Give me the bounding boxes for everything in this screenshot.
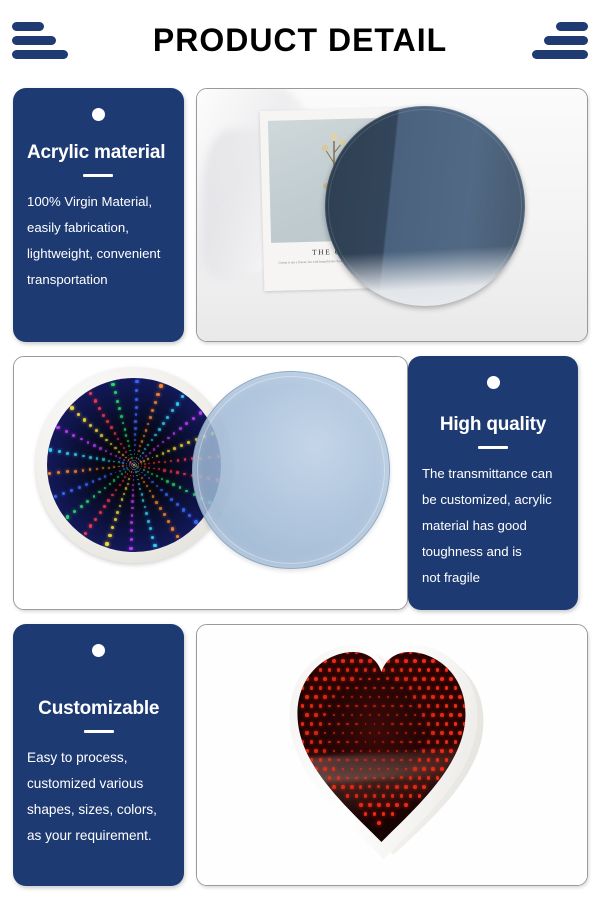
feature-card-body: 100% Virgin Material, easily fabrication… — [27, 189, 170, 293]
led-dot — [124, 428, 126, 430]
led-dot — [364, 668, 367, 671]
led-dot — [140, 468, 141, 469]
led-dot — [116, 400, 119, 403]
product-photo-infinity-mirror — [13, 356, 408, 610]
led-dot — [120, 415, 123, 418]
led-dot — [440, 767, 444, 771]
led-dot — [355, 794, 358, 797]
led-dot — [117, 438, 119, 440]
led-dot — [199, 411, 202, 414]
led-dot — [158, 468, 160, 470]
heart-mirror — [283, 637, 497, 867]
led-dot — [115, 489, 117, 491]
led-dot — [436, 686, 440, 690]
led-dot — [458, 659, 462, 663]
led-dot — [125, 434, 127, 436]
led-dot — [113, 466, 115, 468]
led-dot — [161, 478, 163, 480]
led-dot — [148, 467, 150, 469]
led-dot — [305, 731, 308, 734]
led-dot — [373, 812, 377, 816]
led-dot — [449, 731, 453, 735]
led-dot — [314, 731, 317, 734]
led-dot — [188, 514, 191, 517]
feature-card-title: Customizable — [27, 699, 170, 720]
led-dot — [131, 507, 134, 510]
led-dot — [162, 441, 164, 443]
led-dot — [170, 470, 172, 472]
led-dot — [350, 677, 353, 680]
led-dot — [404, 677, 407, 680]
led-dot — [305, 659, 309, 663]
led-dot — [436, 758, 440, 762]
led-dot — [332, 785, 335, 788]
led-dot — [422, 767, 425, 770]
led-dot — [119, 457, 121, 459]
led-dot — [192, 417, 195, 420]
led-dot — [72, 434, 75, 437]
led-dot — [153, 448, 155, 450]
led-dot — [133, 479, 135, 481]
led-dot — [134, 453, 136, 455]
led-dot — [130, 454, 132, 456]
led-dot — [301, 704, 305, 708]
led-dot — [145, 455, 147, 457]
led-dot — [114, 391, 117, 394]
led-dot — [140, 455, 142, 457]
led-dot — [173, 432, 176, 435]
led-dot — [179, 486, 182, 489]
led-dot — [449, 749, 453, 753]
led-dot — [134, 457, 135, 458]
led-dot — [314, 677, 318, 681]
product-detail-page: PRODUCT DETAIL Acrylic material 100% Vir… — [0, 0, 600, 904]
led-dot — [107, 499, 110, 502]
led-dot — [445, 722, 449, 726]
led-dot — [395, 803, 399, 807]
led-dot — [130, 529, 133, 532]
led-dot — [57, 471, 60, 474]
led-dot — [382, 650, 386, 654]
led-dot — [144, 466, 146, 468]
feature-row-3: Customizable Easy to process, customized… — [13, 624, 588, 886]
led-dot — [151, 481, 153, 483]
led-dot — [337, 776, 340, 779]
led-dot — [86, 500, 89, 503]
led-dot — [404, 659, 408, 663]
deco-bar-icon — [556, 22, 588, 31]
led-dot — [458, 731, 462, 735]
led-dot — [100, 434, 103, 437]
led-dot — [115, 472, 117, 474]
led-dot — [144, 448, 146, 450]
led-dot — [185, 422, 188, 425]
led-dot — [134, 449, 136, 451]
led-dot — [418, 686, 421, 689]
led-dot — [187, 441, 190, 444]
led-dot — [82, 469, 85, 472]
led-dot — [99, 511, 102, 514]
led-dot — [167, 437, 170, 440]
led-dot — [449, 713, 453, 717]
led-dot — [323, 767, 326, 770]
led-dot — [445, 758, 449, 762]
led-dot — [56, 426, 59, 429]
deco-bar-icon — [544, 36, 588, 45]
title-divider — [83, 174, 113, 177]
led-dot — [337, 668, 340, 671]
led-dot — [141, 472, 143, 474]
led-dot — [346, 794, 349, 797]
led-dot — [108, 460, 110, 462]
led-dot — [122, 454, 124, 456]
led-dot — [84, 532, 87, 535]
led-dot — [118, 407, 121, 410]
led-dot — [143, 460, 145, 462]
led-dot — [355, 723, 357, 725]
led-dot — [314, 713, 317, 716]
led-dot — [151, 536, 154, 539]
led-dot — [148, 463, 150, 465]
led-dot — [368, 803, 371, 806]
led-dot — [413, 767, 416, 770]
led-dot — [111, 383, 114, 386]
led-dot — [409, 686, 412, 689]
led-dot — [305, 695, 309, 699]
led-dot — [176, 535, 179, 538]
led-dot — [180, 444, 183, 447]
led-dot — [422, 785, 426, 789]
led-dot — [378, 714, 380, 716]
led-dot — [449, 677, 453, 681]
led-dot — [147, 458, 149, 460]
led-dot — [111, 494, 113, 496]
led-dot — [369, 714, 371, 716]
led-dot — [391, 741, 393, 743]
led-dot — [176, 471, 179, 474]
led-dot — [142, 499, 144, 501]
led-dot — [413, 785, 416, 788]
led-dot — [400, 705, 403, 708]
led-dot — [431, 713, 434, 716]
led-dot — [418, 668, 422, 672]
led-dot — [144, 463, 146, 465]
led-dot — [391, 705, 393, 707]
led-dot — [74, 453, 77, 456]
led-dot — [134, 467, 135, 468]
led-dot — [323, 695, 326, 698]
led-dot — [135, 406, 138, 409]
feature-card-body-line: be customized, acrylic — [422, 487, 564, 513]
led-dot — [319, 722, 322, 725]
led-dot — [114, 518, 117, 521]
tag-hole-icon — [487, 376, 500, 389]
led-dot — [136, 457, 137, 458]
led-dot — [135, 413, 138, 416]
led-dot — [129, 464, 130, 465]
led-dot — [427, 740, 430, 743]
led-dot — [458, 713, 462, 717]
led-dot — [323, 677, 327, 681]
led-dot — [158, 428, 161, 431]
led-dot — [409, 776, 412, 779]
led-dot — [310, 740, 313, 743]
led-dot — [119, 484, 121, 486]
led-dot — [111, 526, 114, 529]
led-dot — [125, 471, 127, 473]
led-dot — [143, 435, 145, 437]
led-dot — [85, 483, 88, 486]
led-dot — [102, 414, 105, 417]
led-dot — [149, 527, 152, 530]
tag-hole-icon — [92, 108, 105, 121]
led-dot — [377, 821, 381, 825]
led-dot — [160, 489, 162, 491]
led-dot — [346, 705, 349, 708]
led-dot — [139, 488, 141, 490]
led-dot — [124, 476, 126, 478]
led-dot — [123, 468, 125, 470]
led-dot — [134, 427, 136, 429]
feature-card-body-line: material has good — [422, 513, 564, 539]
led-dot — [66, 452, 69, 455]
led-dot — [431, 677, 435, 681]
led-dot — [346, 668, 349, 671]
led-dot — [96, 468, 98, 470]
led-dot — [144, 474, 146, 476]
photo-scene-round-mirror: THE COTTON Cotton is not a flower, but w… — [197, 89, 587, 341]
led-dot — [147, 520, 150, 523]
led-dot — [121, 498, 123, 500]
led-dot — [123, 459, 125, 461]
led-dot — [110, 453, 112, 455]
led-dot — [458, 695, 462, 699]
led-dot — [89, 456, 92, 459]
led-dot — [319, 668, 323, 672]
led-dot — [359, 803, 362, 806]
led-dot — [138, 483, 140, 485]
led-dot — [378, 750, 380, 752]
led-dot — [382, 759, 384, 761]
led-dot — [133, 475, 135, 477]
led-dot — [172, 483, 175, 486]
led-dot — [151, 409, 154, 412]
led-dot — [355, 668, 358, 671]
led-dot — [153, 462, 155, 464]
led-dot — [400, 794, 403, 797]
led-dot — [449, 695, 453, 699]
led-dot — [314, 695, 317, 698]
led-dot — [58, 450, 61, 453]
led-dot — [128, 459, 129, 460]
led-dot — [337, 686, 340, 689]
led-dot — [310, 650, 314, 654]
led-dot — [106, 420, 109, 423]
led-dot — [153, 468, 155, 470]
product-photo-round-mirror: THE COTTON Cotton is not a flower, but w… — [196, 88, 588, 342]
led-dot — [418, 758, 421, 761]
led-dot — [98, 478, 100, 480]
led-dot — [382, 812, 386, 816]
led-dot — [130, 538, 133, 541]
led-dot — [135, 380, 138, 383]
led-dot — [319, 686, 322, 689]
led-dot — [454, 650, 458, 654]
led-dot — [130, 521, 133, 524]
led-dot — [176, 503, 179, 506]
led-dot — [146, 485, 148, 487]
led-dot — [378, 732, 380, 734]
led-dot — [387, 732, 389, 734]
led-dot — [355, 759, 357, 761]
led-dot — [141, 493, 143, 495]
led-dot — [167, 520, 170, 523]
led-dot — [391, 668, 394, 671]
led-dot — [89, 524, 92, 527]
led-dot — [131, 500, 133, 502]
led-dot — [328, 776, 331, 779]
led-dot — [183, 473, 186, 476]
led-dot — [413, 659, 417, 663]
led-dot — [373, 759, 375, 761]
led-dot — [185, 490, 188, 493]
led-dot — [93, 444, 96, 447]
led-dot — [377, 803, 380, 806]
led-dot — [132, 489, 134, 491]
feature-card-title: Acrylic material — [27, 143, 170, 164]
led-dot — [391, 723, 393, 725]
led-dot — [95, 429, 98, 432]
led-dot — [436, 776, 440, 780]
led-dot — [386, 803, 390, 807]
led-dot — [341, 785, 344, 788]
led-dot — [137, 454, 139, 456]
led-dot — [346, 759, 349, 762]
led-dot — [148, 477, 150, 479]
led-dot — [89, 468, 92, 471]
led-dot — [132, 494, 134, 496]
led-dot — [431, 749, 434, 752]
header-decoration-right — [532, 22, 588, 59]
led-dot — [373, 668, 376, 671]
led-dot — [78, 486, 81, 489]
led-dot — [391, 759, 393, 761]
led-dot — [427, 668, 431, 672]
feature-card-body-line: 100% Virgin Material, — [27, 189, 170, 215]
led-dot — [134, 444, 136, 446]
led-dot — [440, 677, 444, 681]
led-dot — [445, 650, 449, 654]
led-dot — [445, 704, 449, 708]
led-dot — [463, 650, 467, 654]
led-dot — [395, 677, 398, 680]
feature-card-body: Easy to process, customized various shap… — [27, 745, 170, 849]
photo-scene-heart-mirror — [197, 625, 587, 885]
feature-card-body: The transmittance can be customized, acr… — [422, 461, 564, 591]
led-dot — [141, 440, 143, 442]
led-dot — [130, 475, 132, 477]
header-decoration-left — [12, 22, 68, 59]
led-dot — [96, 457, 98, 459]
tag-hole-icon — [92, 644, 105, 657]
led-dot — [126, 467, 127, 468]
led-dot — [54, 495, 57, 498]
led-dot — [355, 705, 357, 707]
led-dot — [440, 695, 444, 699]
led-dot — [122, 462, 124, 464]
led-dot — [158, 461, 160, 463]
led-dot — [139, 469, 140, 470]
led-dot — [163, 513, 166, 516]
led-dot — [159, 507, 162, 510]
led-dot — [128, 455, 130, 457]
led-dot — [114, 447, 116, 449]
led-dot — [373, 794, 376, 797]
led-dot — [413, 677, 416, 680]
led-dot — [139, 445, 141, 447]
led-dot — [163, 469, 165, 471]
led-dot — [194, 520, 197, 523]
led-dot — [173, 447, 176, 450]
led-dot — [422, 677, 426, 681]
led-dot — [162, 422, 165, 425]
led-dot — [128, 478, 130, 480]
led-dot — [395, 785, 398, 788]
led-dot — [391, 794, 394, 797]
led-dot — [108, 467, 110, 469]
led-dot — [360, 732, 362, 734]
led-dot — [99, 447, 101, 449]
led-dot — [94, 518, 97, 521]
led-dot — [102, 458, 104, 460]
led-dot — [136, 475, 138, 477]
led-dot — [364, 812, 368, 816]
led-dot — [143, 469, 145, 471]
led-dot — [104, 487, 106, 489]
led-dot — [74, 470, 77, 473]
disc-edge — [197, 376, 385, 564]
led-dot — [125, 451, 127, 453]
led-dot — [135, 471, 136, 472]
led-dot — [93, 495, 96, 498]
heart-led-tunnel — [293, 646, 473, 846]
photo-scene-infinity-mirror — [14, 357, 407, 609]
led-dot — [110, 426, 113, 429]
feature-card-body-line: not fragile — [422, 565, 564, 591]
led-dot — [152, 457, 154, 459]
led-dot — [118, 466, 120, 468]
led-dot — [131, 457, 132, 458]
led-dot — [135, 389, 138, 392]
led-dot — [105, 439, 107, 441]
led-dot — [422, 695, 425, 698]
led-dot — [141, 463, 142, 464]
led-dot — [149, 452, 151, 454]
led-dot — [427, 758, 430, 761]
led-dot — [156, 485, 158, 487]
led-dot — [105, 542, 108, 545]
led-dot — [436, 704, 439, 707]
feature-card-customizable: Customizable Easy to process, customized… — [13, 624, 184, 886]
led-dot — [165, 493, 168, 496]
led-dot — [125, 457, 127, 459]
round-acrylic-mirror — [325, 106, 525, 306]
led-dot — [141, 477, 143, 479]
led-dot — [82, 455, 85, 458]
led-dot — [132, 484, 134, 486]
led-dot — [409, 794, 413, 798]
feature-card-body-line: as your requirement. — [27, 823, 170, 849]
